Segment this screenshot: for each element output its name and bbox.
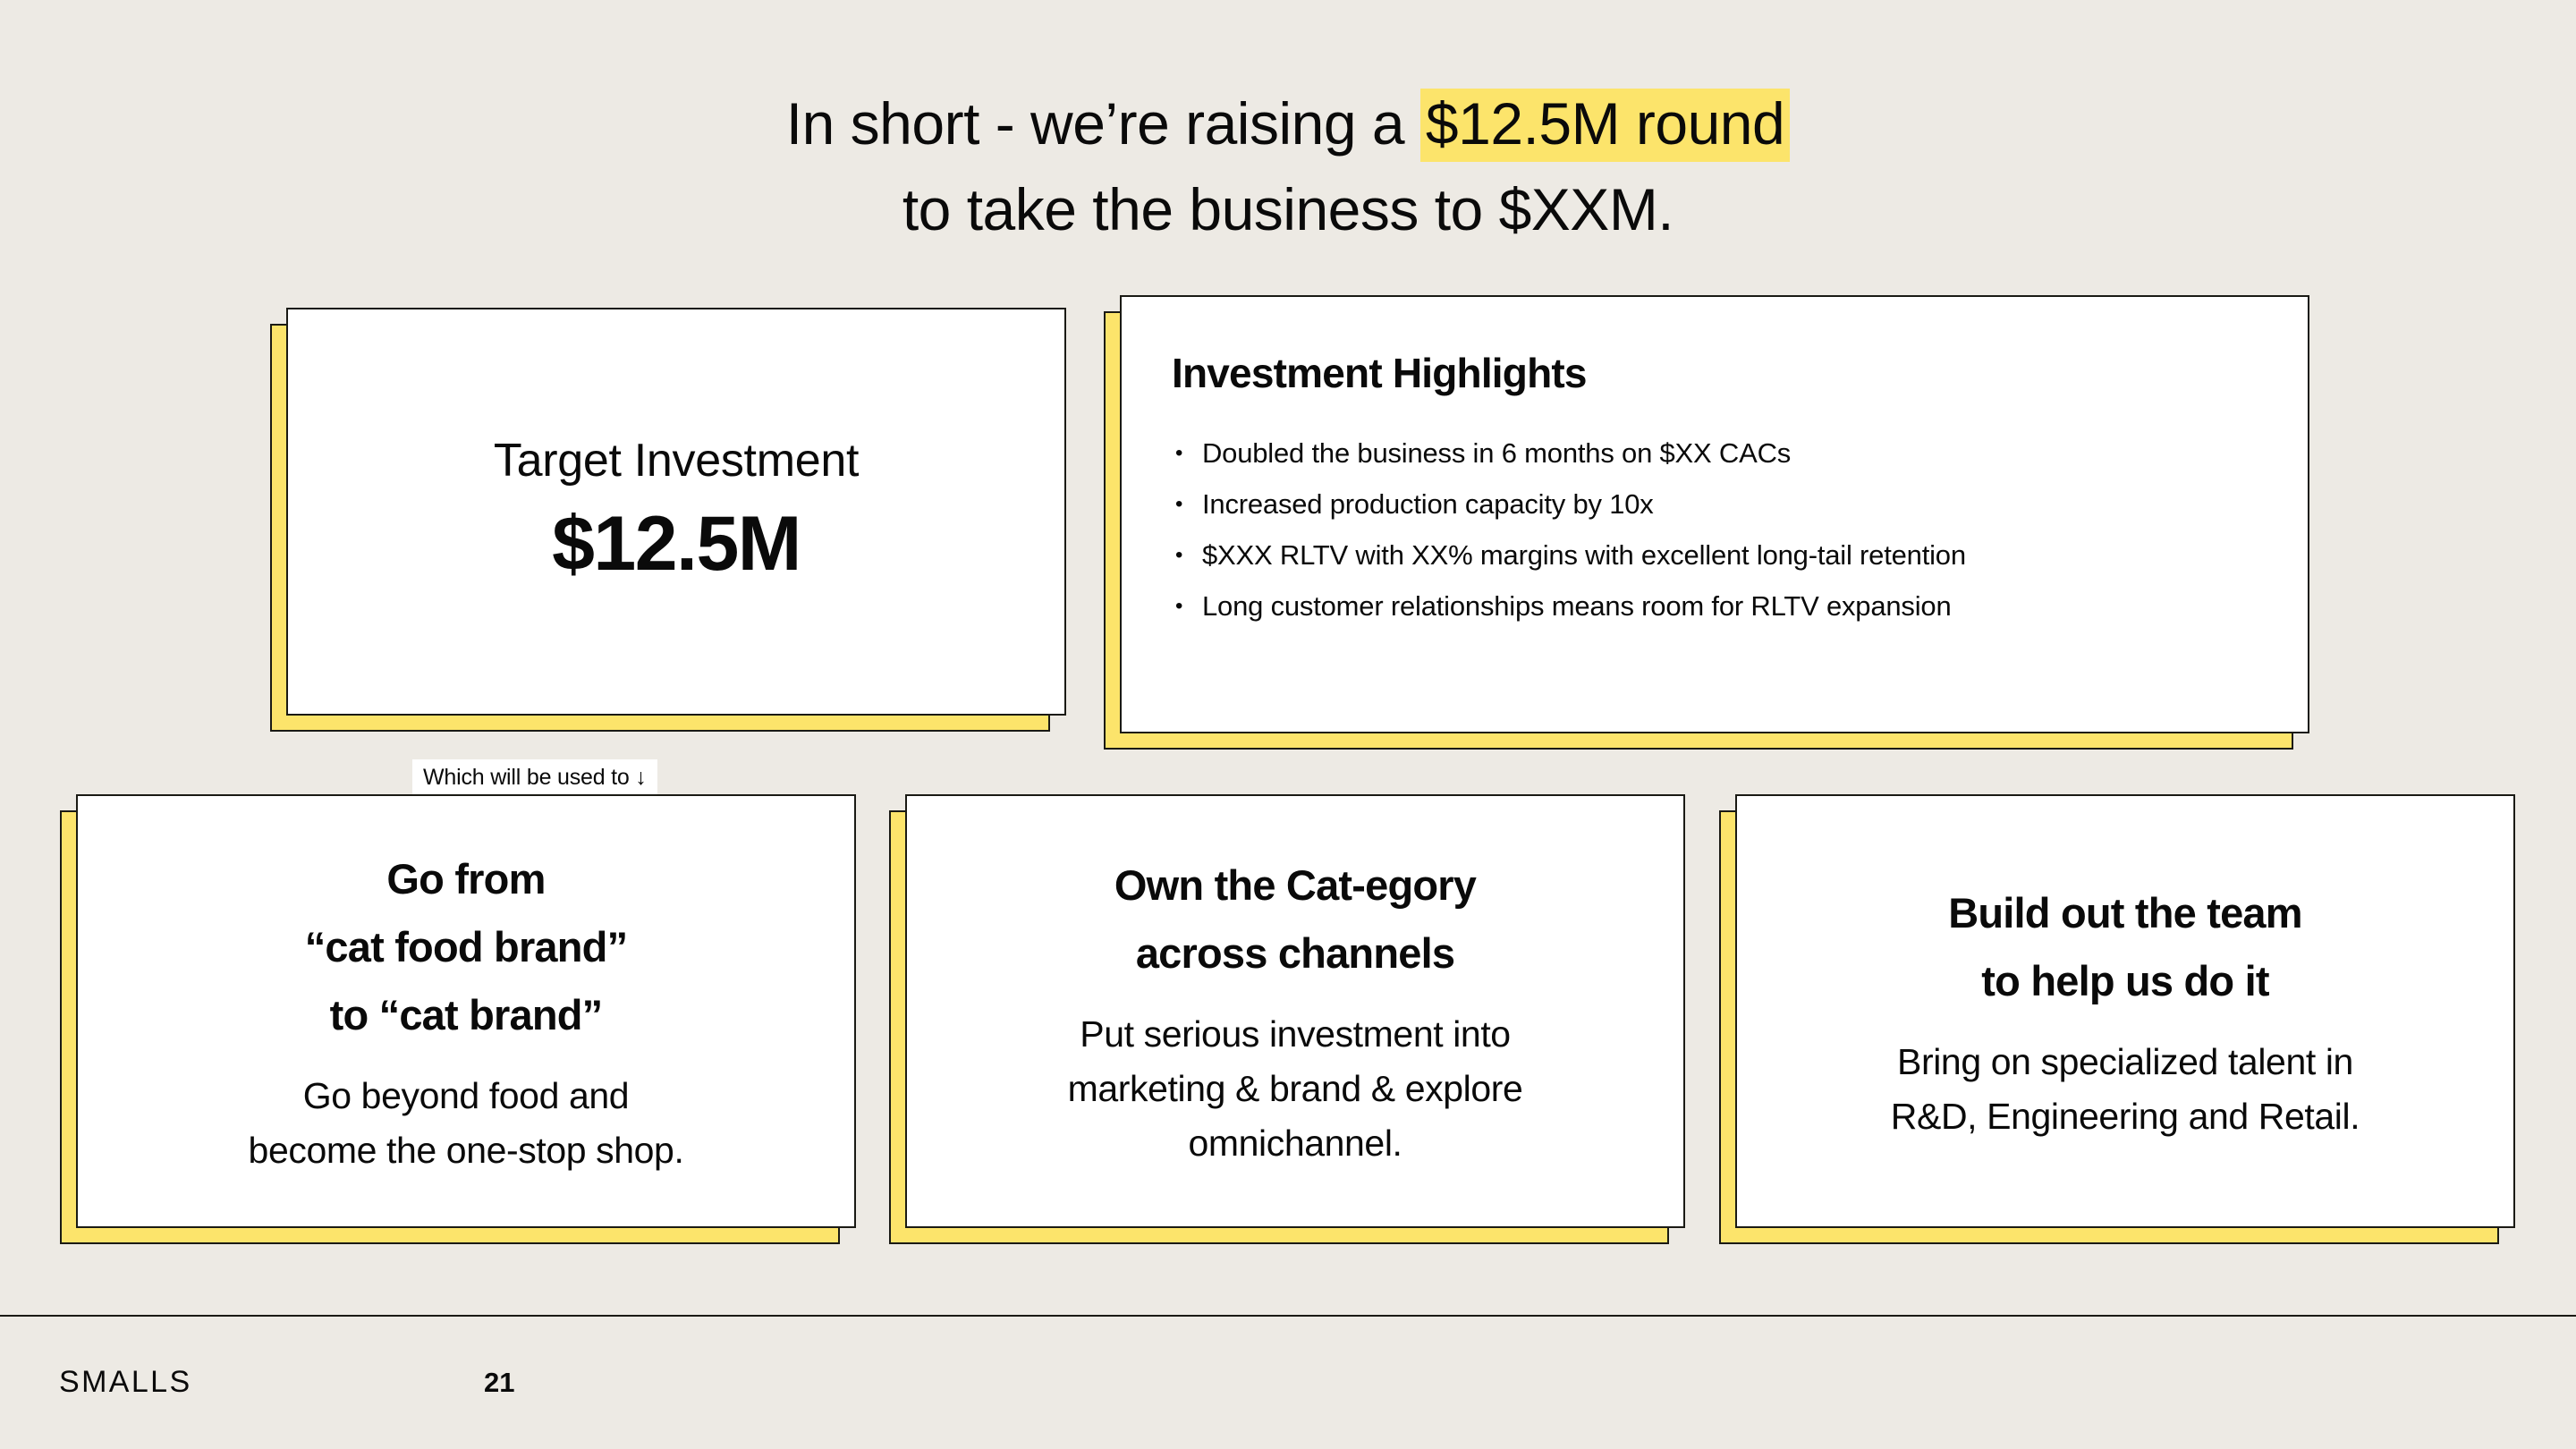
list-item: Long customer relationships means room f… — [1172, 580, 2267, 631]
list-item: $XXX RLTV with XX% margins with excellen… — [1172, 530, 2267, 580]
card-surface: Build out the team to help us do it Brin… — [1735, 794, 2515, 1228]
title-line1-before: In short - we’re raising a — [786, 90, 1420, 157]
target-investment-card: Target Investment $12.5M — [286, 308, 1066, 716]
footer-divider — [0, 1315, 2576, 1317]
investment-highlights-heading: Investment Highlights — [1172, 349, 2267, 397]
strategy-card-body: Bring on specialized talent in R&D, Engi… — [1891, 1035, 2360, 1144]
card-surface: Target Investment $12.5M — [286, 308, 1066, 716]
title-highlight: $12.5M round — [1420, 89, 1790, 162]
strategy-card-build-out-the-team: Build out the team to help us do it Brin… — [1735, 794, 2515, 1228]
investment-highlights-list: Doubled the business in 6 months on $XX … — [1172, 428, 2267, 631]
list-item: Doubled the business in 6 months on $XX … — [1172, 428, 2267, 479]
connector-label: Which will be used to ↓ — [412, 759, 657, 797]
card-surface: Own the Cat-egory across channels Put se… — [905, 794, 1685, 1228]
list-item: Increased production capacity by 10x — [1172, 479, 2267, 530]
investment-highlights-card: Investment Highlights Doubled the busine… — [1120, 295, 2309, 733]
strategy-card-heading: Go from “cat food brand” to “cat brand” — [305, 845, 628, 1049]
target-investment-value: $12.5M — [552, 497, 801, 590]
strategy-card-heading: Build out the team to help us do it — [1948, 879, 2302, 1015]
strategy-card-body: Go beyond food and become the one-stop s… — [249, 1069, 684, 1178]
strategy-card-heading: Own the Cat-egory across channels — [1114, 852, 1476, 987]
page-title: In short - we’re raising a $12.5M roundt… — [0, 80, 2576, 252]
strategy-card-go-from-cat-food-brand: Go from “cat food brand” to “cat brand” … — [76, 794, 856, 1228]
slide-canvas: In short - we’re raising a $12.5M roundt… — [0, 0, 2576, 1449]
target-investment-label: Target Investment — [494, 433, 859, 488]
page-number: 21 — [484, 1366, 514, 1400]
title-line2: to take the business to $XXM. — [902, 176, 1674, 242]
brand-logo: SMALLS — [59, 1364, 192, 1400]
strategy-card-body: Put serious investment into marketing & … — [1068, 1007, 1523, 1171]
strategy-card-own-the-cat-egory: Own the Cat-egory across channels Put se… — [905, 794, 1685, 1228]
card-surface: Investment Highlights Doubled the busine… — [1120, 295, 2309, 733]
card-surface: Go from “cat food brand” to “cat brand” … — [76, 794, 856, 1228]
